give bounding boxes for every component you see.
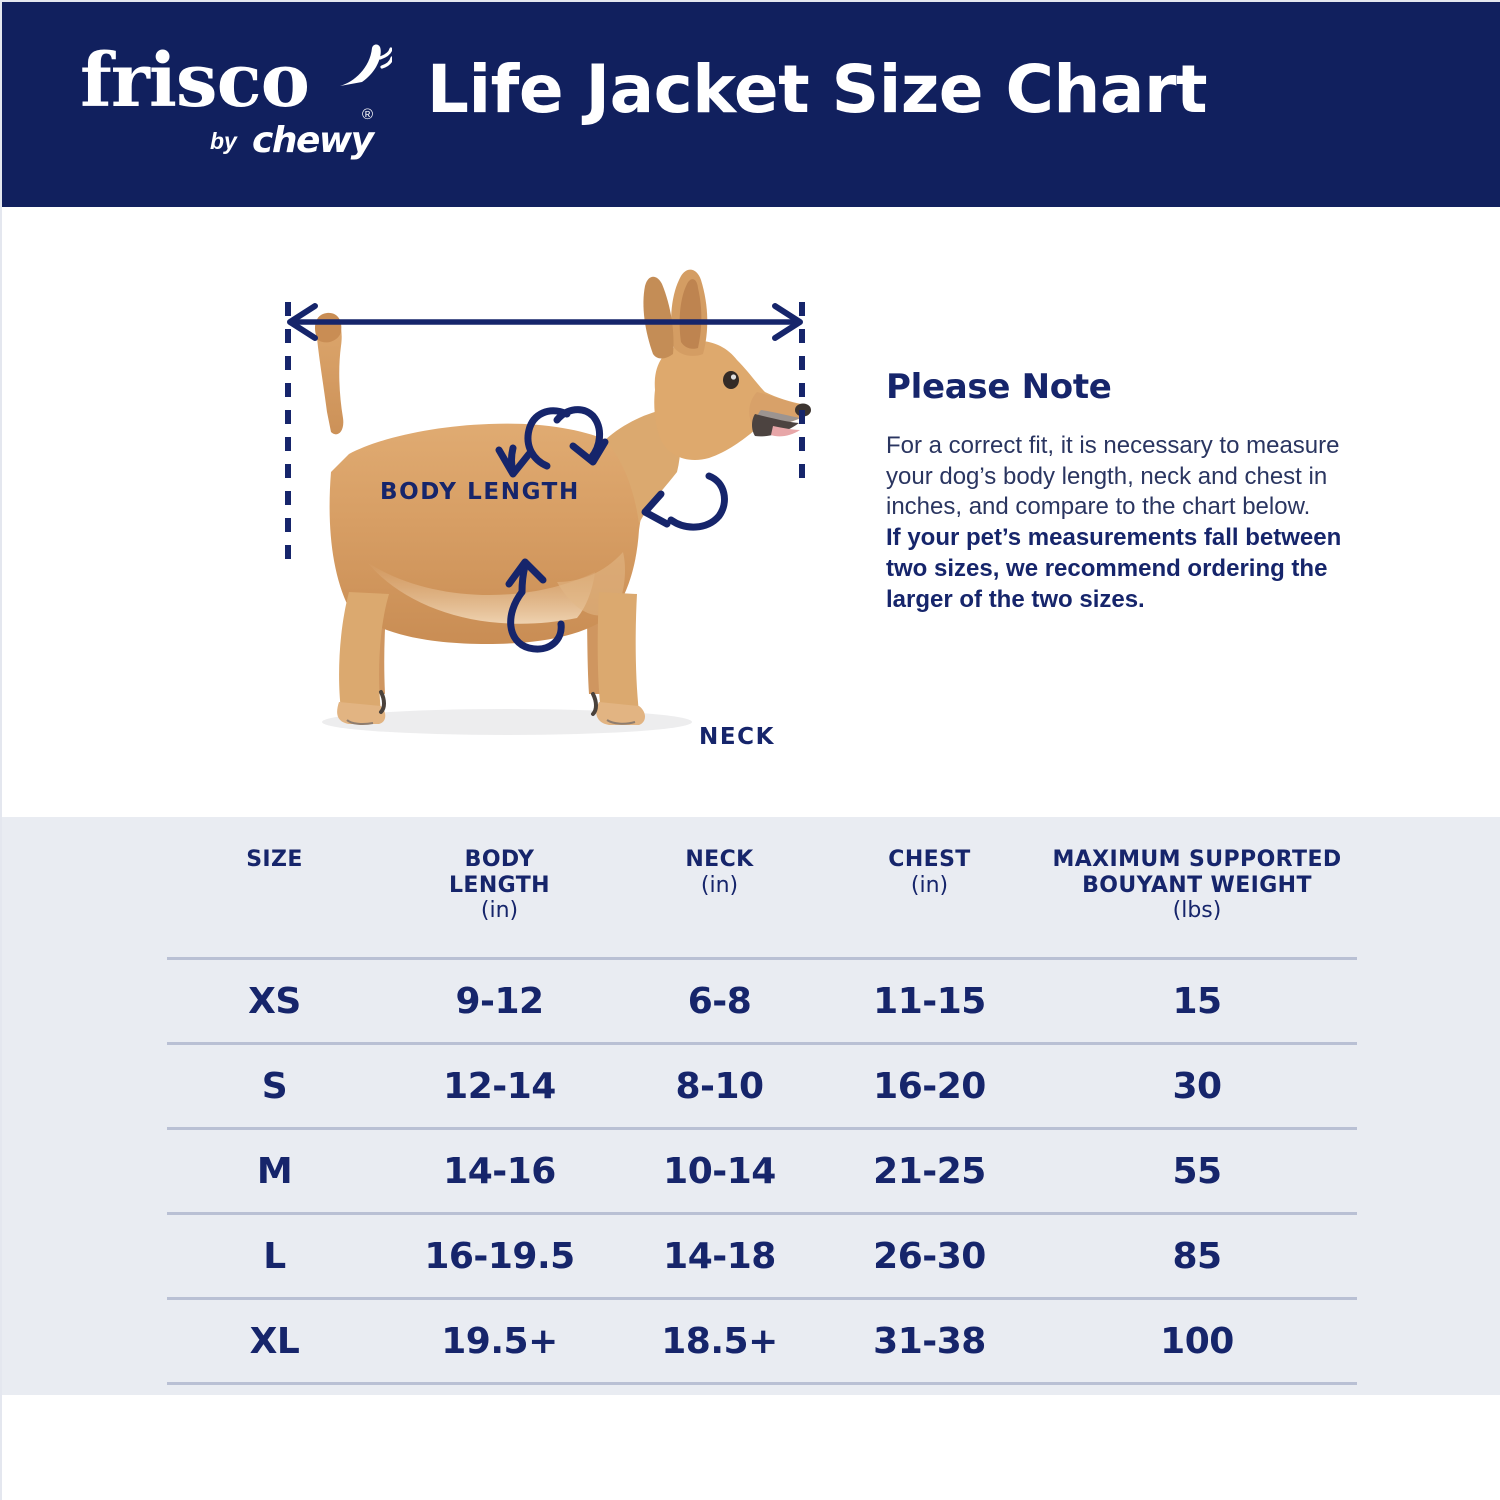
size-table-section: SIZE BODY LENGTH (in) NECK (in) CHEST (i…: [2, 817, 1500, 1395]
cell-weight: 55: [1037, 1129, 1357, 1214]
body-length-label: BODY LENGTH: [380, 479, 580, 505]
cell-size: L: [167, 1214, 382, 1299]
please-note-title: Please Note: [886, 367, 1356, 407]
column-header-chest: CHEST (in): [822, 837, 1037, 959]
cell-chest: 11-15: [822, 959, 1037, 1044]
cell-chest: 26-30: [822, 1214, 1037, 1299]
column-header-size: SIZE: [167, 837, 382, 959]
table-row: L 16-19.5 14-18 26-30 85: [167, 1214, 1357, 1299]
cell-size: M: [167, 1129, 382, 1214]
cell-body-length: 14-16: [382, 1129, 617, 1214]
please-note-emphasis: If your pet’s measurements fall between …: [886, 523, 1356, 615]
measurement-diagram: BODY LENGTH NECK CHEST Please Note For a…: [2, 207, 1500, 817]
cell-body-length: 16-19.5: [382, 1214, 617, 1299]
cell-weight: 100: [1037, 1299, 1357, 1384]
table-row: S 12-14 8-10 16-20 30: [167, 1044, 1357, 1129]
neck-label: NECK: [699, 724, 775, 750]
cell-body-length: 19.5+: [382, 1299, 617, 1384]
column-header-max-bouyant-weight: MAXIMUM SUPPORTED BOUYANT WEIGHT (lbs): [1037, 837, 1357, 959]
table-header-row: SIZE BODY LENGTH (in) NECK (in) CHEST (i…: [167, 837, 1357, 959]
please-note-block: Please Note For a correct fit, it is nec…: [886, 367, 1356, 615]
dog-measurement-svg: [257, 262, 827, 752]
table-row: XL 19.5+ 18.5+ 31-38 100: [167, 1299, 1357, 1384]
header-band: frisco ® by chewy Life Jacket Size Chart: [2, 2, 1500, 207]
cell-neck: 6-8: [617, 959, 822, 1044]
cell-weight: 85: [1037, 1214, 1357, 1299]
cell-chest: 16-20: [822, 1044, 1037, 1129]
cell-neck: 8-10: [617, 1044, 822, 1129]
table-row: XS 9-12 6-8 11-15 15: [167, 959, 1357, 1044]
cell-body-length: 12-14: [382, 1044, 617, 1129]
dog-illustration: [257, 262, 827, 752]
column-header-neck: NECK (in): [617, 837, 822, 959]
cell-size: S: [167, 1044, 382, 1129]
size-table-body: XS 9-12 6-8 11-15 15 S 12-14 8-10 16-20 …: [167, 959, 1357, 1384]
column-header-body-length: BODY LENGTH (in): [382, 837, 617, 959]
cell-size: XL: [167, 1299, 382, 1384]
cell-neck: 14-18: [617, 1214, 822, 1299]
cell-weight: 30: [1037, 1044, 1357, 1129]
cell-neck: 18.5+: [617, 1299, 822, 1384]
size-table: SIZE BODY LENGTH (in) NECK (in) CHEST (i…: [167, 837, 1357, 1385]
please-note-paragraph: For a correct fit, it is necessary to me…: [886, 431, 1356, 523]
cell-chest: 21-25: [822, 1129, 1037, 1214]
size-table-head: SIZE BODY LENGTH (in) NECK (in) CHEST (i…: [167, 837, 1357, 959]
page-title: Life Jacket Size Chart: [2, 57, 1500, 123]
table-row: M 14-16 10-14 21-25 55: [167, 1129, 1357, 1214]
cell-weight: 15: [1037, 959, 1357, 1044]
cell-neck: 10-14: [617, 1129, 822, 1214]
logo-by-text: by: [210, 128, 237, 155]
cell-size: XS: [167, 959, 382, 1044]
size-chart-page: frisco ® by chewy Life Jacket Size Chart: [0, 0, 1500, 1500]
cell-chest: 31-38: [822, 1299, 1037, 1384]
chewy-wordmark: chewy: [252, 120, 373, 161]
cell-body-length: 9-12: [382, 959, 617, 1044]
